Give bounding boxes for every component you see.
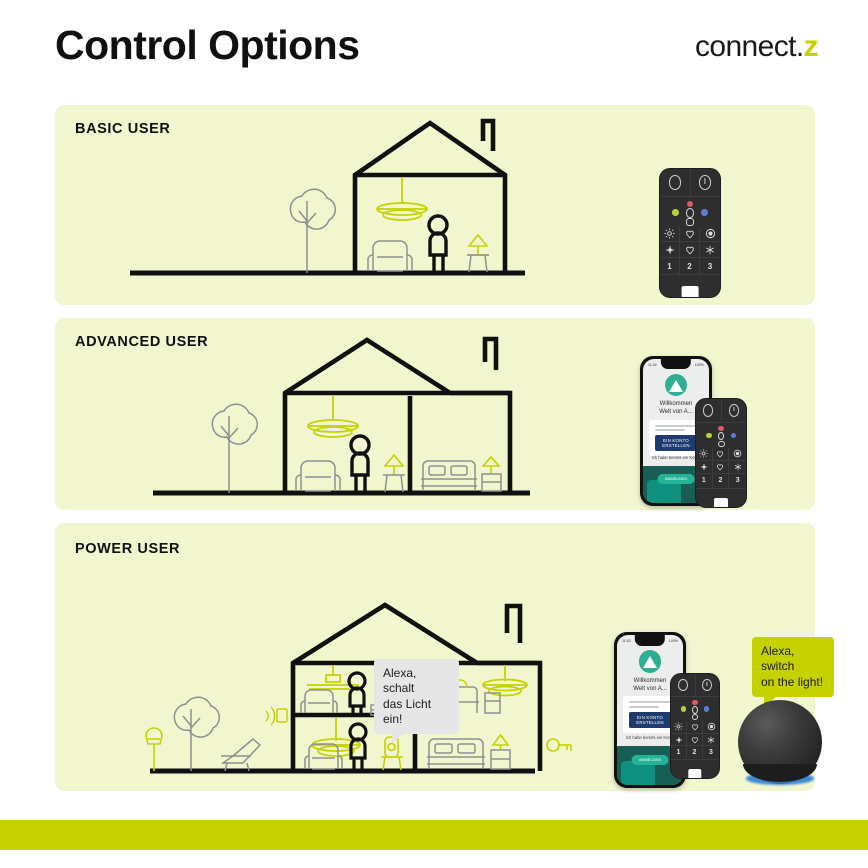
blue-color-dot[interactable] bbox=[731, 433, 737, 439]
status-battery: 100% bbox=[669, 639, 678, 643]
remote-battery-tab bbox=[682, 286, 699, 298]
star-icon[interactable] bbox=[660, 242, 680, 258]
circle-icon[interactable] bbox=[696, 399, 722, 422]
footer-accent-bar bbox=[0, 820, 868, 850]
key-2[interactable]: 2 bbox=[687, 746, 703, 759]
bubble-line-1: Alexa, schalt bbox=[383, 666, 450, 697]
key-3[interactable]: 3 bbox=[700, 258, 720, 274]
page-title: Control Options bbox=[55, 22, 360, 69]
app-welcome-text: Willkommen Welt von A... bbox=[633, 677, 667, 693]
red-color-dot[interactable] bbox=[692, 700, 697, 705]
remote-top-row[interactable] bbox=[671, 674, 719, 697]
target-icon[interactable] bbox=[729, 448, 746, 461]
color-wheel-icon[interactable] bbox=[692, 706, 698, 714]
red-color-dot[interactable] bbox=[718, 426, 724, 432]
remote-button-grid[interactable]: 1 2 3 bbox=[671, 721, 719, 760]
star-icon[interactable] bbox=[671, 734, 687, 747]
heart-icon[interactable] bbox=[713, 448, 730, 461]
create-account-button[interactable]: EIN KONTO ERSTELLEN bbox=[629, 712, 671, 728]
speech-bubble-german: Alexa, schalt das Licht ein! bbox=[374, 659, 459, 734]
heart-icon[interactable] bbox=[687, 721, 703, 734]
sun-icon[interactable] bbox=[696, 448, 713, 461]
circle-icon[interactable] bbox=[671, 674, 696, 696]
power-icon[interactable] bbox=[722, 399, 747, 422]
power-icon[interactable] bbox=[691, 169, 721, 196]
remote-bottom bbox=[660, 274, 720, 297]
color-wheel-icon[interactable] bbox=[686, 208, 694, 218]
snowflake-icon[interactable] bbox=[729, 461, 746, 474]
heart-icon[interactable] bbox=[687, 734, 703, 747]
key-2[interactable]: 2 bbox=[680, 258, 700, 274]
snowflake-icon[interactable] bbox=[703, 734, 719, 747]
remote-control-advanced[interactable]: 1 2 3 bbox=[695, 398, 747, 508]
status-time: 11:02 bbox=[622, 639, 631, 643]
status-time: 11:02 bbox=[648, 363, 657, 367]
remote-control-power[interactable]: 1 2 3 bbox=[670, 673, 720, 779]
placeholder-line bbox=[629, 701, 671, 703]
placeholder-line bbox=[655, 429, 685, 431]
remote-battery-tab bbox=[714, 498, 728, 508]
phone-notch bbox=[635, 635, 665, 646]
remote-bottom bbox=[696, 488, 746, 507]
white-mode-icon[interactable] bbox=[686, 218, 694, 225]
welcome-line-1: Willkommen bbox=[659, 400, 693, 408]
heart-icon[interactable] bbox=[680, 242, 700, 258]
remote-button-grid[interactable]: 1 2 3 bbox=[660, 227, 720, 274]
bubble-line-2: das Licht ein! bbox=[383, 697, 450, 728]
target-icon[interactable] bbox=[700, 227, 720, 243]
app-logo-icon bbox=[665, 374, 687, 396]
target-icon[interactable] bbox=[703, 721, 719, 734]
brand-logo-mark: z bbox=[804, 30, 818, 63]
login-button[interactable]: ANMELDEN bbox=[658, 474, 695, 484]
welcome-line-2: Welt von A... bbox=[659, 408, 693, 416]
speech-bubble-english: Alexa, switch on the light! bbox=[752, 637, 834, 697]
heart-icon[interactable] bbox=[680, 227, 700, 243]
brand-logo: connect.z bbox=[695, 30, 818, 64]
remote-top-row[interactable] bbox=[660, 169, 720, 197]
remote-bottom bbox=[671, 759, 719, 778]
bubble-line-1: Alexa, switch bbox=[761, 644, 825, 675]
app-welcome-text: Willkommen Welt von A... bbox=[659, 400, 693, 416]
power-icon[interactable] bbox=[696, 674, 720, 696]
remote-control-basic[interactable]: 1 2 3 bbox=[659, 168, 721, 298]
key-1[interactable]: 1 bbox=[696, 474, 713, 487]
sun-icon[interactable] bbox=[671, 721, 687, 734]
echo-speaker[interactable] bbox=[738, 700, 822, 784]
phone-notch bbox=[661, 359, 691, 369]
green-color-dot[interactable] bbox=[681, 706, 686, 711]
green-color-dot[interactable] bbox=[672, 209, 679, 216]
page-header: Control Options connect.z bbox=[0, 0, 868, 100]
placeholder-line bbox=[629, 706, 659, 708]
green-color-dot[interactable] bbox=[706, 433, 712, 439]
key-2[interactable]: 2 bbox=[713, 474, 730, 487]
placeholder-line bbox=[655, 425, 697, 427]
blue-color-dot[interactable] bbox=[704, 706, 709, 711]
key-3[interactable]: 3 bbox=[729, 474, 746, 487]
circle-icon[interactable] bbox=[660, 169, 691, 196]
remote-top-row[interactable] bbox=[696, 399, 746, 423]
app-signup-card: EIN KONTO ERSTELLEN bbox=[623, 696, 677, 733]
bubble-line-2: on the light! bbox=[761, 675, 825, 690]
remote-battery-tab bbox=[688, 769, 701, 779]
status-battery: 100% bbox=[695, 363, 704, 367]
welcome-line-2: Welt von A... bbox=[633, 685, 667, 693]
heart-icon[interactable] bbox=[713, 461, 730, 474]
brand-logo-text: connect. bbox=[695, 30, 804, 63]
star-icon[interactable] bbox=[696, 461, 713, 474]
key-3[interactable]: 3 bbox=[703, 746, 719, 759]
remote-button-grid[interactable]: 1 2 3 bbox=[696, 448, 746, 488]
app-logo-icon bbox=[639, 650, 661, 672]
remote-color-pad[interactable] bbox=[671, 697, 719, 721]
create-account-button[interactable]: EIN KONTO ERSTELLEN bbox=[655, 435, 697, 451]
color-wheel-icon[interactable] bbox=[718, 432, 725, 441]
remote-color-pad[interactable] bbox=[696, 423, 746, 448]
white-mode-icon[interactable] bbox=[692, 714, 699, 720]
welcome-line-1: Willkommen bbox=[633, 677, 667, 685]
remote-color-pad[interactable] bbox=[660, 197, 720, 226]
key-1[interactable]: 1 bbox=[660, 258, 680, 274]
snowflake-icon[interactable] bbox=[700, 242, 720, 258]
sun-icon[interactable] bbox=[660, 227, 680, 243]
white-mode-icon[interactable] bbox=[718, 441, 725, 448]
login-button[interactable]: ANMELDEN bbox=[632, 755, 669, 765]
blue-color-dot[interactable] bbox=[701, 209, 708, 216]
key-1[interactable]: 1 bbox=[671, 746, 687, 759]
red-color-dot[interactable] bbox=[687, 201, 694, 208]
